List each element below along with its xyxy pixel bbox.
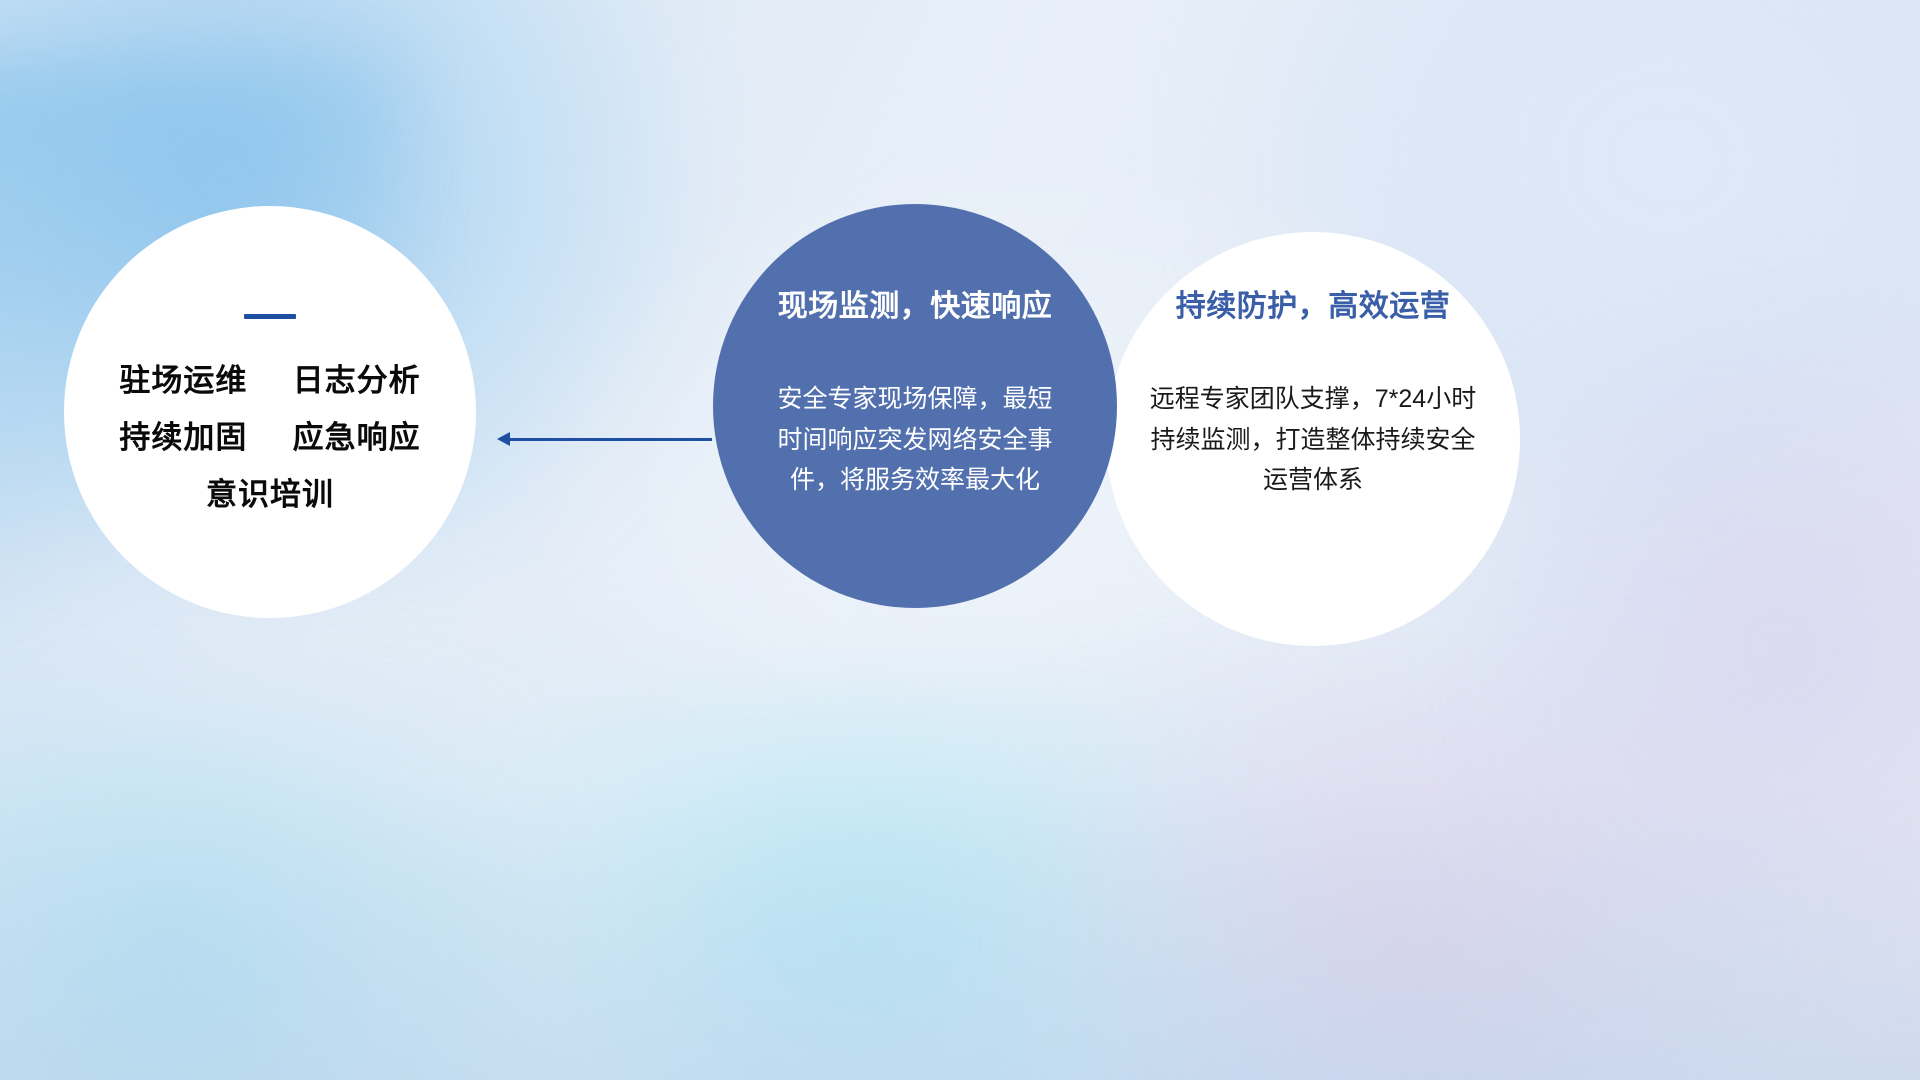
connector-arrow-shaft [506, 438, 712, 441]
capability-line-2: 持续加固 应急响应 [119, 422, 420, 453]
left-capability-circle[interactable]: 驻场运维 日志分析 持续加固 应急响应 意识培训 [64, 206, 476, 618]
capability-item-yingjixiangying: 应急响应 [293, 420, 421, 455]
right-circle-body: 远程专家团队支撑，7*24小时持续监测，打造整体持续安全运营体系 [1143, 379, 1483, 501]
diagram-stage: 驻场运维 日志分析 持续加固 应急响应 意识培训 现场监测，快速响应 安全专家现… [0, 0, 1920, 1080]
middle-circle-content: 现场监测，快速响应 安全专家现场保障，最短时间响应突发网络安全事件，将服务效率最… [713, 204, 1117, 608]
capability-line-3: 意识培训 [206, 479, 334, 510]
right-circle-content: 持续防护，高效运营 远程专家团队支撑，7*24小时持续监测，打造整体持续安全运营… [1106, 232, 1520, 646]
capability-line-1: 驻场运维 日志分析 [119, 365, 420, 396]
capability-item-yishipeixun: 意识培训 [206, 477, 334, 512]
capability-item-chixujiagu: 持续加固 [119, 420, 247, 455]
connector-arrow-left-icon [497, 432, 712, 446]
right-circle-title: 持续防护，高效运营 [1176, 290, 1451, 323]
middle-circle-title: 现场监测，快速响应 [778, 290, 1053, 323]
right-operations-circle[interactable]: 持续防护，高效运营 远程专家团队支撑，7*24小时持续监测，打造整体持续安全运营… [1106, 232, 1520, 646]
middle-onsite-circle[interactable]: 现场监测，快速响应 安全专家现场保障，最短时间响应突发网络安全事件，将服务效率最… [713, 204, 1117, 608]
middle-circle-body: 安全专家现场保障，最短时间响应突发网络安全事件，将服务效率最大化 [771, 379, 1059, 501]
left-circle-content: 驻场运维 日志分析 持续加固 应急响应 意识培训 [64, 206, 476, 618]
capability-item-rizhifenxi: 日志分析 [293, 363, 421, 398]
divider-rule-icon [244, 314, 296, 319]
capability-item-zhuchangyunwei: 驻场运维 [119, 363, 247, 398]
connector-arrow-head [497, 432, 510, 446]
